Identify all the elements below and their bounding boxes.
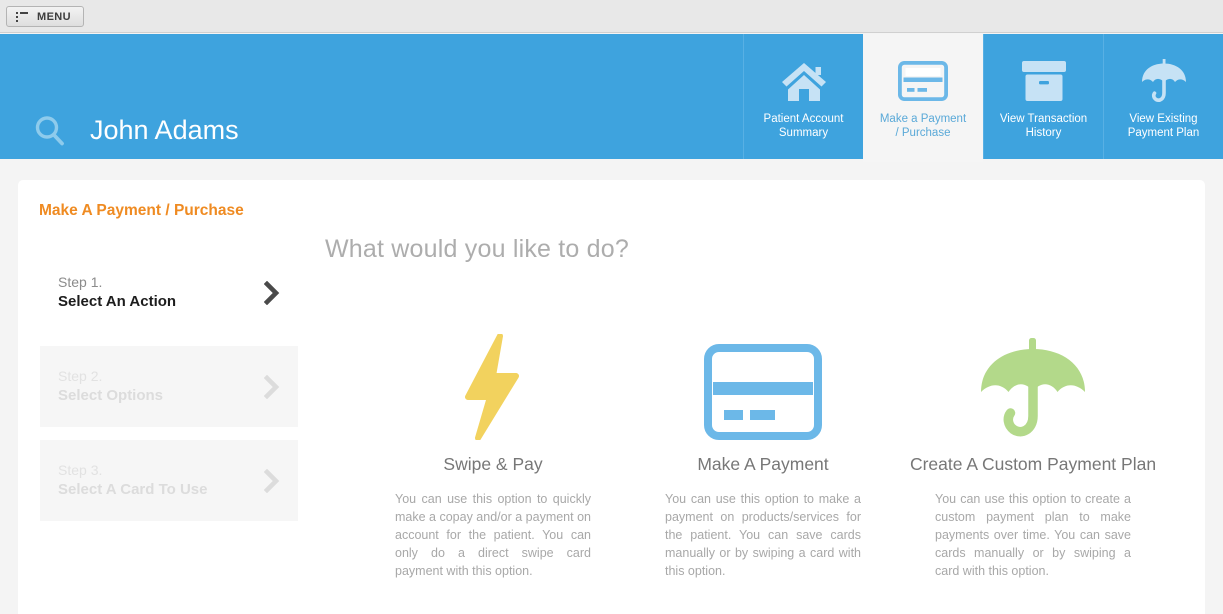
action-card-title: Create A Custom Payment Plan — [910, 454, 1156, 475]
umbrella-icon — [977, 330, 1089, 440]
step-number: Step 2. — [58, 368, 102, 384]
action-card-list: Swipe & Pay You can use this option to q… — [358, 330, 1168, 580]
page-header: John Adams Patient Account Summary — [0, 34, 1223, 159]
home-icon — [779, 56, 829, 106]
tab-make-a-payment-purchase[interactable]: Make a Payment / Purchase — [863, 34, 983, 162]
menu-button[interactable]: MENU — [6, 6, 84, 27]
tab-label: Patient Account Summary — [764, 112, 844, 140]
action-card-description: You can use this option to create a cust… — [935, 490, 1131, 580]
chevron-right-icon — [264, 469, 280, 493]
step-item-select-a-card-to-use[interactable]: Step 3. Select A Card To Use — [40, 440, 298, 521]
step-name: Select A Card To Use — [58, 481, 208, 498]
menu-button-label: MENU — [37, 11, 71, 23]
tab-label: View Existing Payment Plan — [1128, 112, 1200, 140]
chevron-right-icon — [264, 281, 280, 305]
header-nav-tabs: Patient Account Summary Make a Payment /… — [743, 34, 1223, 159]
step-text: Step 2. Select Options — [58, 367, 264, 406]
action-card-make-a-payment[interactable]: Make A Payment You can use this option t… — [628, 330, 898, 580]
step-list: Step 1. Select An Action Step 2. Select … — [40, 252, 298, 521]
action-card-description: You can use this option to quickly make … — [395, 490, 591, 580]
lightning-bolt-icon — [454, 330, 532, 440]
step-text: Step 1. Select An Action — [58, 273, 264, 312]
top-bar: MENU — [0, 0, 1223, 33]
step-name: Select Options — [58, 387, 163, 404]
action-card-create-a-custom-payment-plan[interactable]: Create A Custom Payment Plan You can use… — [898, 330, 1168, 580]
tab-label: Make a Payment / Purchase — [880, 112, 966, 140]
content-panel: Make A Payment / Purchase Step 1. Select… — [18, 180, 1205, 614]
main-heading: What would you like to do? — [325, 235, 629, 264]
credit-card-icon — [898, 56, 948, 106]
tab-patient-account-summary[interactable]: Patient Account Summary — [743, 34, 863, 159]
credit-card-icon — [704, 330, 822, 440]
archive-box-icon — [1020, 56, 1068, 106]
umbrella-icon — [1138, 56, 1190, 106]
action-card-swipe-and-pay[interactable]: Swipe & Pay You can use this option to q… — [358, 330, 628, 580]
list-icon — [16, 12, 28, 22]
tab-view-transaction-history[interactable]: View Transaction History — [983, 34, 1103, 159]
action-card-description: You can use this option to make a paymen… — [665, 490, 861, 580]
patient-name: John Adams — [90, 115, 239, 146]
step-item-select-an-action[interactable]: Step 1. Select An Action — [40, 252, 298, 333]
step-item-select-options[interactable]: Step 2. Select Options — [40, 346, 298, 427]
tab-view-existing-payment-plan[interactable]: View Existing Payment Plan — [1103, 34, 1223, 159]
action-card-title: Make A Payment — [697, 454, 828, 475]
step-name: Select An Action — [58, 293, 176, 310]
step-text: Step 3. Select A Card To Use — [58, 461, 264, 500]
action-card-title: Swipe & Pay — [443, 454, 542, 475]
step-number: Step 1. — [58, 274, 102, 290]
search-icon[interactable] — [33, 114, 67, 148]
tab-label: View Transaction History — [1000, 112, 1087, 140]
page-title: Make A Payment / Purchase — [39, 202, 244, 220]
step-number: Step 3. — [58, 462, 102, 478]
chevron-right-icon — [264, 375, 280, 399]
